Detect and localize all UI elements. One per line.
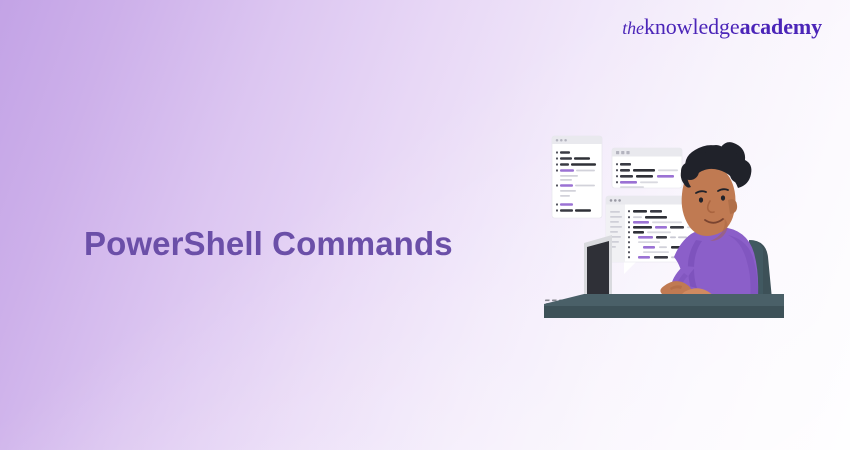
desk	[544, 294, 784, 318]
laptop-screen	[587, 241, 609, 301]
window-dot-icon	[621, 151, 624, 154]
window-pointer-tail	[624, 261, 637, 274]
desk-top	[544, 306, 784, 318]
window-dot-icon	[614, 199, 617, 202]
window-dot-icon	[610, 199, 613, 202]
hero-illustration	[520, 108, 830, 333]
logo-text-knowledge: knowledge	[644, 14, 740, 39]
window-dot-icon	[556, 139, 559, 142]
code-window-left	[552, 136, 602, 218]
eye-right	[721, 195, 725, 200]
logo-text-the: the	[622, 18, 644, 38]
window-dot-icon	[560, 139, 563, 142]
page-title: PowerShell Commands	[84, 225, 453, 263]
window-dot-icon	[618, 199, 621, 202]
logo-text-academy: academy	[740, 14, 822, 39]
window-dot-icon	[626, 151, 629, 154]
window-dot-icon	[616, 151, 619, 154]
banner-root: theknowledgeacademy PowerShell Commands	[0, 0, 850, 450]
illustration-svg	[520, 108, 830, 333]
brand-logo[interactable]: theknowledgeacademy	[622, 14, 822, 40]
eye-left	[699, 197, 703, 202]
code-window-top	[612, 148, 682, 188]
window-dot-icon	[564, 139, 567, 142]
